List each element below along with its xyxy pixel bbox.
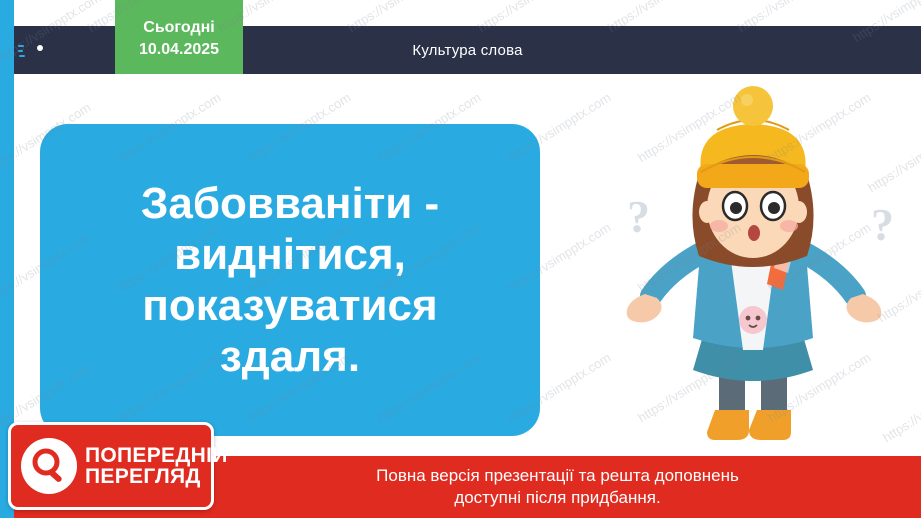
preview-line2: ПЕРЕГЛЯД bbox=[85, 466, 228, 487]
preview-label: ПОПЕРЕДНІЙ ПЕРЕГЛЯД bbox=[85, 445, 228, 488]
purchase-notice-line1: Повна версія презентації та решта доповн… bbox=[376, 465, 739, 487]
date-value: 10.04.2025 bbox=[139, 41, 219, 59]
definition-text: Забовваніти - виднітися, показуватися зд… bbox=[141, 178, 439, 382]
question-mark-right: ? bbox=[871, 198, 894, 251]
graduation-cap-icon bbox=[18, 34, 58, 68]
preview-badge[interactable]: ПОПЕРЕДНІЙ ПЕРЕГЛЯД bbox=[8, 422, 214, 510]
logo-sub-text: pptx bbox=[75, 57, 115, 68]
preview-line1: ПОПЕРЕДНІЙ bbox=[85, 445, 228, 466]
purchase-notice-line2: доступні після придбання. bbox=[454, 487, 660, 509]
question-mark-left: ? bbox=[627, 190, 650, 243]
logo-main-text: BCIM bbox=[63, 34, 115, 55]
date-badge: Сьогодні 10.04.2025 bbox=[115, 0, 243, 78]
definition-card: Забовваніти - виднітися, показуватися зд… bbox=[40, 124, 540, 436]
logo-text: BCIM pptx bbox=[63, 34, 115, 68]
girl-figure bbox=[589, 80, 919, 470]
magnifier-icon bbox=[21, 438, 77, 494]
girl-shrugging-illustration: ? ? bbox=[589, 80, 919, 470]
slide: Культура слова BCIM pptx Сьогодні 10.04.… bbox=[0, 0, 921, 518]
date-label: Сьогодні bbox=[143, 19, 214, 37]
